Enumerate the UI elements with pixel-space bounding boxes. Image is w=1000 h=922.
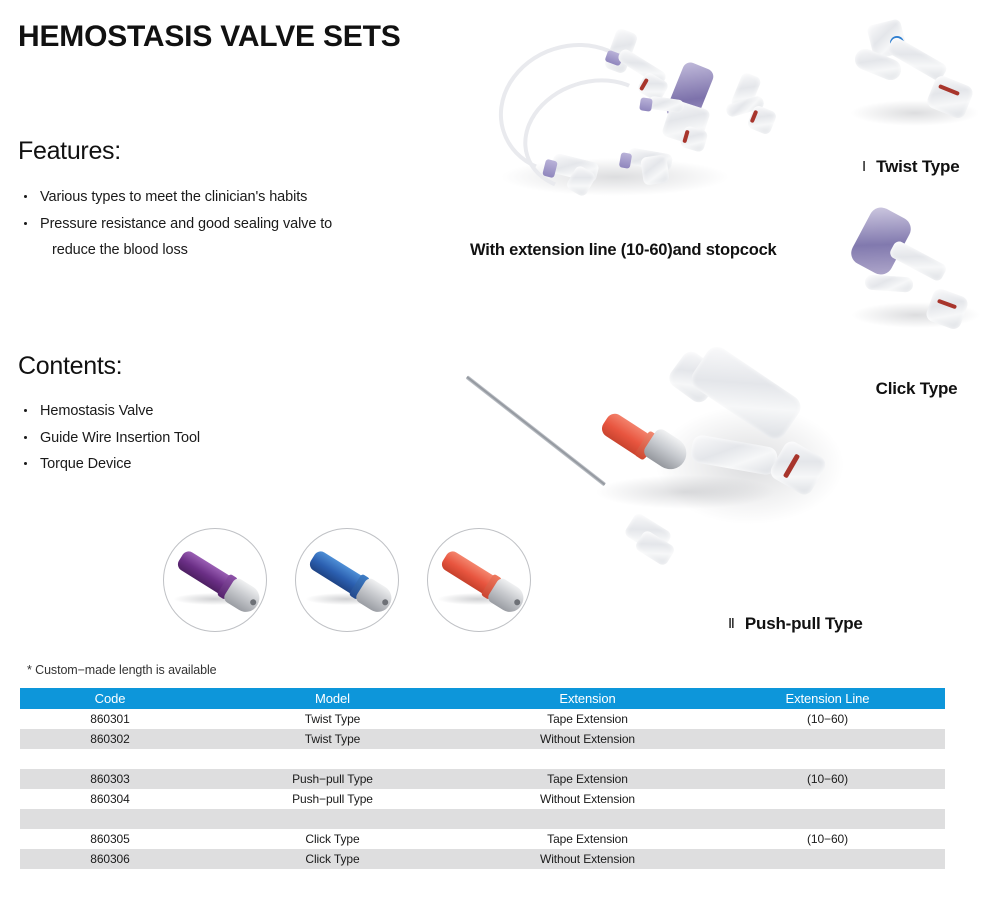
torque-device-purple xyxy=(163,528,267,632)
cell-code: 860304 xyxy=(20,789,200,809)
roman-numeral-two: Ⅱ xyxy=(728,615,736,632)
cell-code xyxy=(20,809,200,829)
features-heading: Features: xyxy=(18,137,121,166)
bullet-dot-icon xyxy=(24,436,27,439)
column-header-extension: Extension xyxy=(465,688,710,709)
cell-extension: Tape Extension xyxy=(465,709,710,729)
list-item-label: Torque Device xyxy=(40,456,131,472)
torque-device-blue xyxy=(295,528,399,632)
cell-extension-line xyxy=(710,749,945,769)
cell-code: 860301 xyxy=(20,709,200,729)
torque-device-red xyxy=(427,528,531,632)
contents-list: Hemostasis Valve Guide Wire Insertion To… xyxy=(22,398,352,478)
list-item: Guide Wire Insertion Tool xyxy=(22,425,352,452)
cell-model: Twist Type xyxy=(200,729,465,749)
bullet-dot-icon xyxy=(24,462,27,465)
table-row: 860304Push−pull TypeWithout Extension xyxy=(20,789,945,809)
product-table: Code Model Extension Extension Line 8603… xyxy=(20,688,945,869)
cell-extension-line xyxy=(710,809,945,829)
page-title: HEMOSTASIS VALVE SETS xyxy=(18,20,401,54)
table-row: 860305Click TypeTape Extension(10−60) xyxy=(20,829,945,849)
torque-device-body xyxy=(429,539,535,632)
type-label-twist: ⅠTwist Type xyxy=(862,157,959,177)
list-item: Hemostasis Valve xyxy=(22,398,352,425)
cell-model: Click Type xyxy=(200,849,465,869)
bullet-dot-icon xyxy=(24,195,27,198)
features-list: Various types to meet the clinician's ha… xyxy=(22,184,442,264)
torque-device-body xyxy=(165,539,271,632)
product-photo-extension-sets xyxy=(470,8,815,223)
cell-extension-line xyxy=(710,729,945,749)
extension-set-caption: With extension line (10-60)and stopcock xyxy=(470,241,777,260)
type-label-text: Click Type xyxy=(876,379,958,398)
cell-extension: Tape Extension xyxy=(465,769,710,789)
list-item-label: Various types to meet the clinician's ha… xyxy=(40,189,307,205)
type-label-text: Twist Type xyxy=(876,157,959,176)
table-body: 860301Twist TypeTape Extension(10−60)860… xyxy=(20,709,945,869)
cell-extension-line: (10−60) xyxy=(710,709,945,729)
table-spacer-row xyxy=(20,749,945,769)
cell-model: Push−pull Type xyxy=(200,789,465,809)
column-header-model: Model xyxy=(200,688,465,709)
cell-code: 860305 xyxy=(20,829,200,849)
table-spacer-row xyxy=(20,809,945,829)
column-header-code: Code xyxy=(20,688,200,709)
type-label-push-pull: ⅡPush-pull Type xyxy=(728,614,863,634)
list-item: Torque Device xyxy=(22,451,352,478)
table-row: 860306Click TypeWithout Extension xyxy=(20,849,945,869)
cell-model: Twist Type xyxy=(200,709,465,729)
cell-extension: Without Extension xyxy=(465,789,710,809)
cell-code xyxy=(20,749,200,769)
list-item-label: Pressure resistance and good sealing val… xyxy=(40,216,332,232)
table-row: 860302Twist TypeWithout Extension xyxy=(20,729,945,749)
guide-wire-insertion-tool xyxy=(466,375,606,486)
cell-code: 860303 xyxy=(20,769,200,789)
type-label-text: Push-pull Type xyxy=(745,614,863,633)
product-photo-twist-type xyxy=(838,14,998,139)
column-header-extension-line: Extension Line xyxy=(710,688,945,709)
table-header-row: Code Model Extension Extension Line xyxy=(20,688,945,709)
cell-extension xyxy=(465,809,710,829)
table-row: 860301Twist TypeTape Extension(10−60) xyxy=(20,709,945,729)
cell-extension-line: (10−60) xyxy=(710,829,945,849)
list-item: Various types to meet the clinician's ha… xyxy=(22,184,442,211)
roman-numeral-one: Ⅰ xyxy=(862,158,867,175)
cell-extension: Tape Extension xyxy=(465,829,710,849)
bullet-dot-icon xyxy=(24,222,27,225)
cell-extension: Without Extension xyxy=(465,729,710,749)
cell-model xyxy=(200,809,465,829)
bullet-dot-icon xyxy=(24,409,27,412)
list-item-label: Guide Wire Insertion Tool xyxy=(40,430,200,446)
cell-extension-line xyxy=(710,849,945,869)
torque-device-body xyxy=(297,539,403,632)
custom-length-note: * Custom−made length is available xyxy=(27,663,217,677)
product-photo-click-type xyxy=(845,198,1000,346)
cell-model: Click Type xyxy=(200,829,465,849)
cell-model xyxy=(200,749,465,769)
list-item-continuation: reduce the blood loss xyxy=(40,237,442,264)
cell-extension: Without Extension xyxy=(465,849,710,869)
cell-extension-line: (10−60) xyxy=(710,769,945,789)
cell-extension xyxy=(465,749,710,769)
list-item: Pressure resistance and good sealing val… xyxy=(22,211,442,264)
cell-code: 860302 xyxy=(20,729,200,749)
cell-model: Push−pull Type xyxy=(200,769,465,789)
cell-code: 860306 xyxy=(20,849,200,869)
list-item-label: Hemostasis Valve xyxy=(40,403,153,419)
cell-extension-line xyxy=(710,789,945,809)
contents-heading: Contents: xyxy=(18,352,122,381)
table-row: 860303Push−pull TypeTape Extension(10−60… xyxy=(20,769,945,789)
